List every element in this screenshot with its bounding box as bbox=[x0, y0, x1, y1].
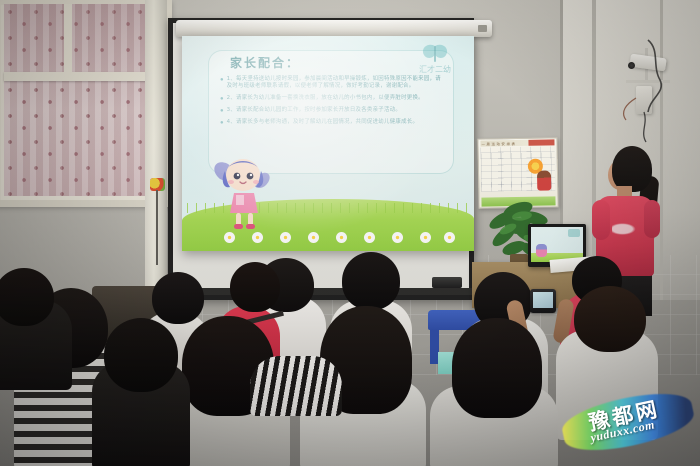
attendee-head bbox=[342, 252, 400, 310]
presenter-shirt-print bbox=[612, 222, 638, 236]
attendee-head bbox=[152, 272, 204, 324]
laptop-slide-logo-icon bbox=[568, 229, 580, 237]
attendee-head bbox=[574, 286, 646, 352]
presenter-right-sleeve bbox=[644, 200, 660, 238]
smartphone-screen bbox=[533, 292, 553, 308]
photo-canvas: 汇才二幼 家长配合： ● 1、每天坚持送幼儿按时来园，参加晨间活动和早操锻炼，如… bbox=[0, 0, 700, 466]
attendee-head bbox=[0, 268, 54, 326]
site-watermark: 豫都网 yuduxx.com bbox=[562, 392, 694, 454]
attendee-head bbox=[452, 318, 542, 418]
attendee-body-striped bbox=[250, 356, 342, 416]
laptop-slide-fairy-icon bbox=[536, 244, 547, 257]
presenter-left-sleeve bbox=[592, 200, 610, 240]
attendee-head bbox=[230, 262, 280, 312]
attendee-head bbox=[104, 318, 178, 392]
